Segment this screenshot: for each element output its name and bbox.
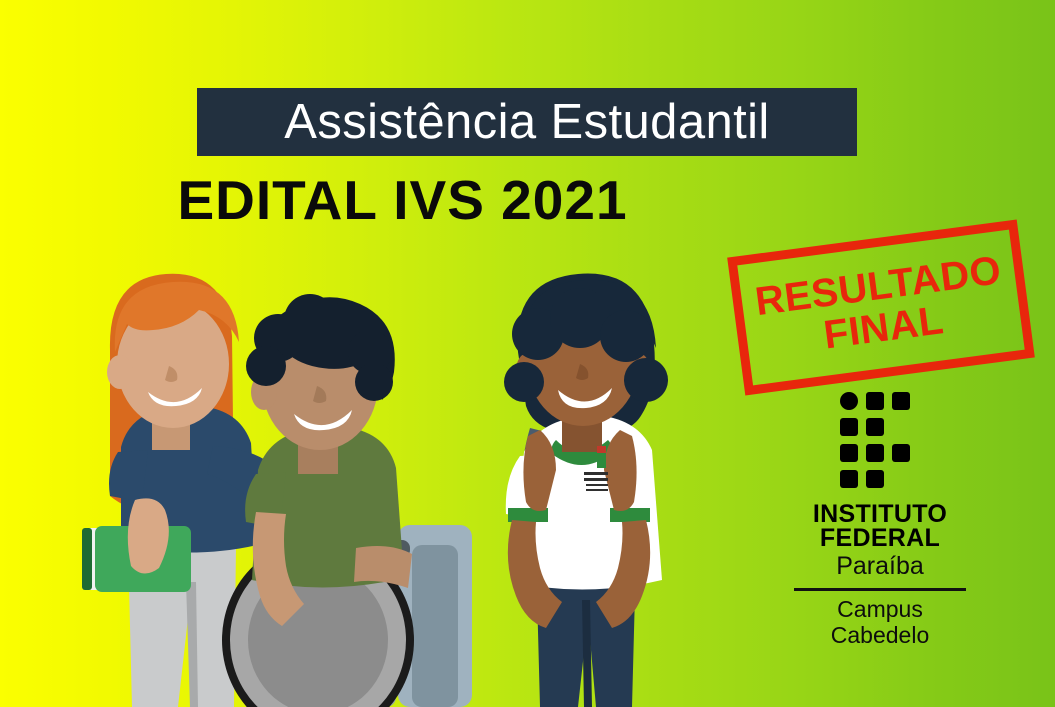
logo-cell-r3c3 xyxy=(892,444,910,462)
logo-paraiba: Paraíba xyxy=(770,551,990,582)
poster-canvas: Assistência Estudantil EDITAL IVS 2021 R… xyxy=(0,0,1055,707)
headline-banner: Assistência Estudantil xyxy=(197,88,857,156)
logo-cell-r1c3 xyxy=(892,392,910,410)
logo-instituto: INSTITUTO xyxy=(770,502,990,526)
page-title: Assistência Estudantil xyxy=(284,98,769,147)
ifpb-logo: INSTITUTO FEDERAL Paraíba Campus Cabedel… xyxy=(770,392,990,647)
logo-cell-r3c2 xyxy=(866,444,884,462)
student-center-wheelchair xyxy=(222,294,472,707)
logo-cell-r4c2 xyxy=(866,470,884,488)
logo-cell-r2c1 xyxy=(840,418,858,436)
logo-cell-r1c2 xyxy=(866,392,884,410)
logo-dot-circle xyxy=(840,392,858,410)
logo-divider xyxy=(794,588,966,591)
subtitle-edital: EDITAL IVS 2021 xyxy=(0,173,1055,228)
logo-cell-r2c2 xyxy=(866,418,884,436)
logo-campus-name: Cabedelo xyxy=(770,622,990,648)
ifpb-logo-text: INSTITUTO FEDERAL Paraíba Campus Cabedel… xyxy=(770,502,990,648)
ifpb-logo-mark xyxy=(840,392,920,492)
logo-cell-r3c1 xyxy=(840,444,858,462)
logo-campus: Campus xyxy=(770,596,990,622)
student-right-backpack xyxy=(504,274,668,707)
logo-cell-r4c1 xyxy=(840,470,858,488)
logo-federal: FEDERAL xyxy=(770,526,990,550)
